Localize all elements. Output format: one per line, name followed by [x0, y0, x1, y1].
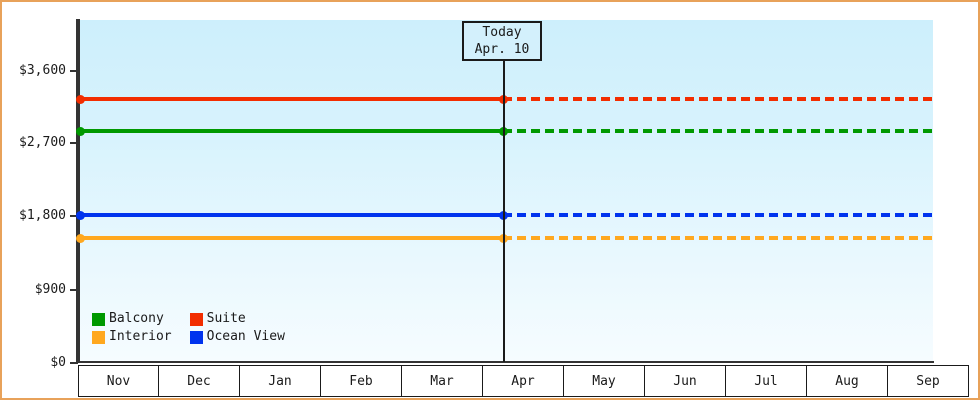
series-line-solid-interior	[80, 236, 503, 240]
series-line-solid-suite	[80, 97, 503, 101]
y-axis-tick	[70, 289, 78, 291]
y-axis-tick	[70, 142, 78, 144]
series-marker-today-ocean-view	[499, 211, 508, 220]
series-marker-today-suite	[499, 95, 508, 104]
series-marker-today-balcony	[499, 127, 508, 136]
series-line-dashed-interior	[503, 236, 933, 240]
series-line-solid-balcony	[80, 129, 503, 133]
month-cell-mar[interactable]: Mar	[402, 365, 483, 397]
series-line-dashed-balcony	[503, 129, 933, 133]
month-cell-apr[interactable]: Apr	[483, 365, 564, 397]
series-line-dashed-ocean-view	[503, 213, 933, 217]
series-marker-start-ocean-view	[76, 211, 85, 220]
month-axis-row: NovDecJanFebMarAprMayJunJulAugSep	[78, 365, 969, 397]
month-cell-jan[interactable]: Jan	[240, 365, 321, 397]
month-cell-dec[interactable]: Dec	[159, 365, 240, 397]
x-axis	[76, 361, 934, 363]
y-axis-label: $3,600	[19, 64, 66, 77]
series-marker-start-balcony	[76, 127, 85, 136]
series-marker-today-interior	[499, 234, 508, 243]
month-cell-may[interactable]: May	[564, 365, 645, 397]
plot-area	[80, 20, 933, 362]
month-cell-feb[interactable]: Feb	[321, 365, 402, 397]
series-marker-start-interior	[76, 234, 85, 243]
y-axis-label: $2,700	[19, 136, 66, 149]
month-cell-jul[interactable]: Jul	[726, 365, 807, 397]
chart-frame: $3,600$2,700$1,800$900$0 Today Apr. 10 B…	[0, 0, 980, 400]
y-axis-tick	[70, 70, 78, 72]
month-cell-sep[interactable]: Sep	[888, 365, 969, 397]
month-cell-nov[interactable]: Nov	[78, 365, 159, 397]
series-line-dashed-suite	[503, 97, 933, 101]
series-marker-start-suite	[76, 95, 85, 104]
y-axis-label: $1,800	[19, 209, 66, 222]
y-axis-label: $900	[35, 283, 66, 296]
series-line-solid-ocean-view	[80, 213, 503, 217]
y-axis-tick	[70, 362, 78, 364]
month-cell-aug[interactable]: Aug	[807, 365, 888, 397]
month-cell-jun[interactable]: Jun	[645, 365, 726, 397]
y-axis-label: $0	[50, 356, 66, 369]
